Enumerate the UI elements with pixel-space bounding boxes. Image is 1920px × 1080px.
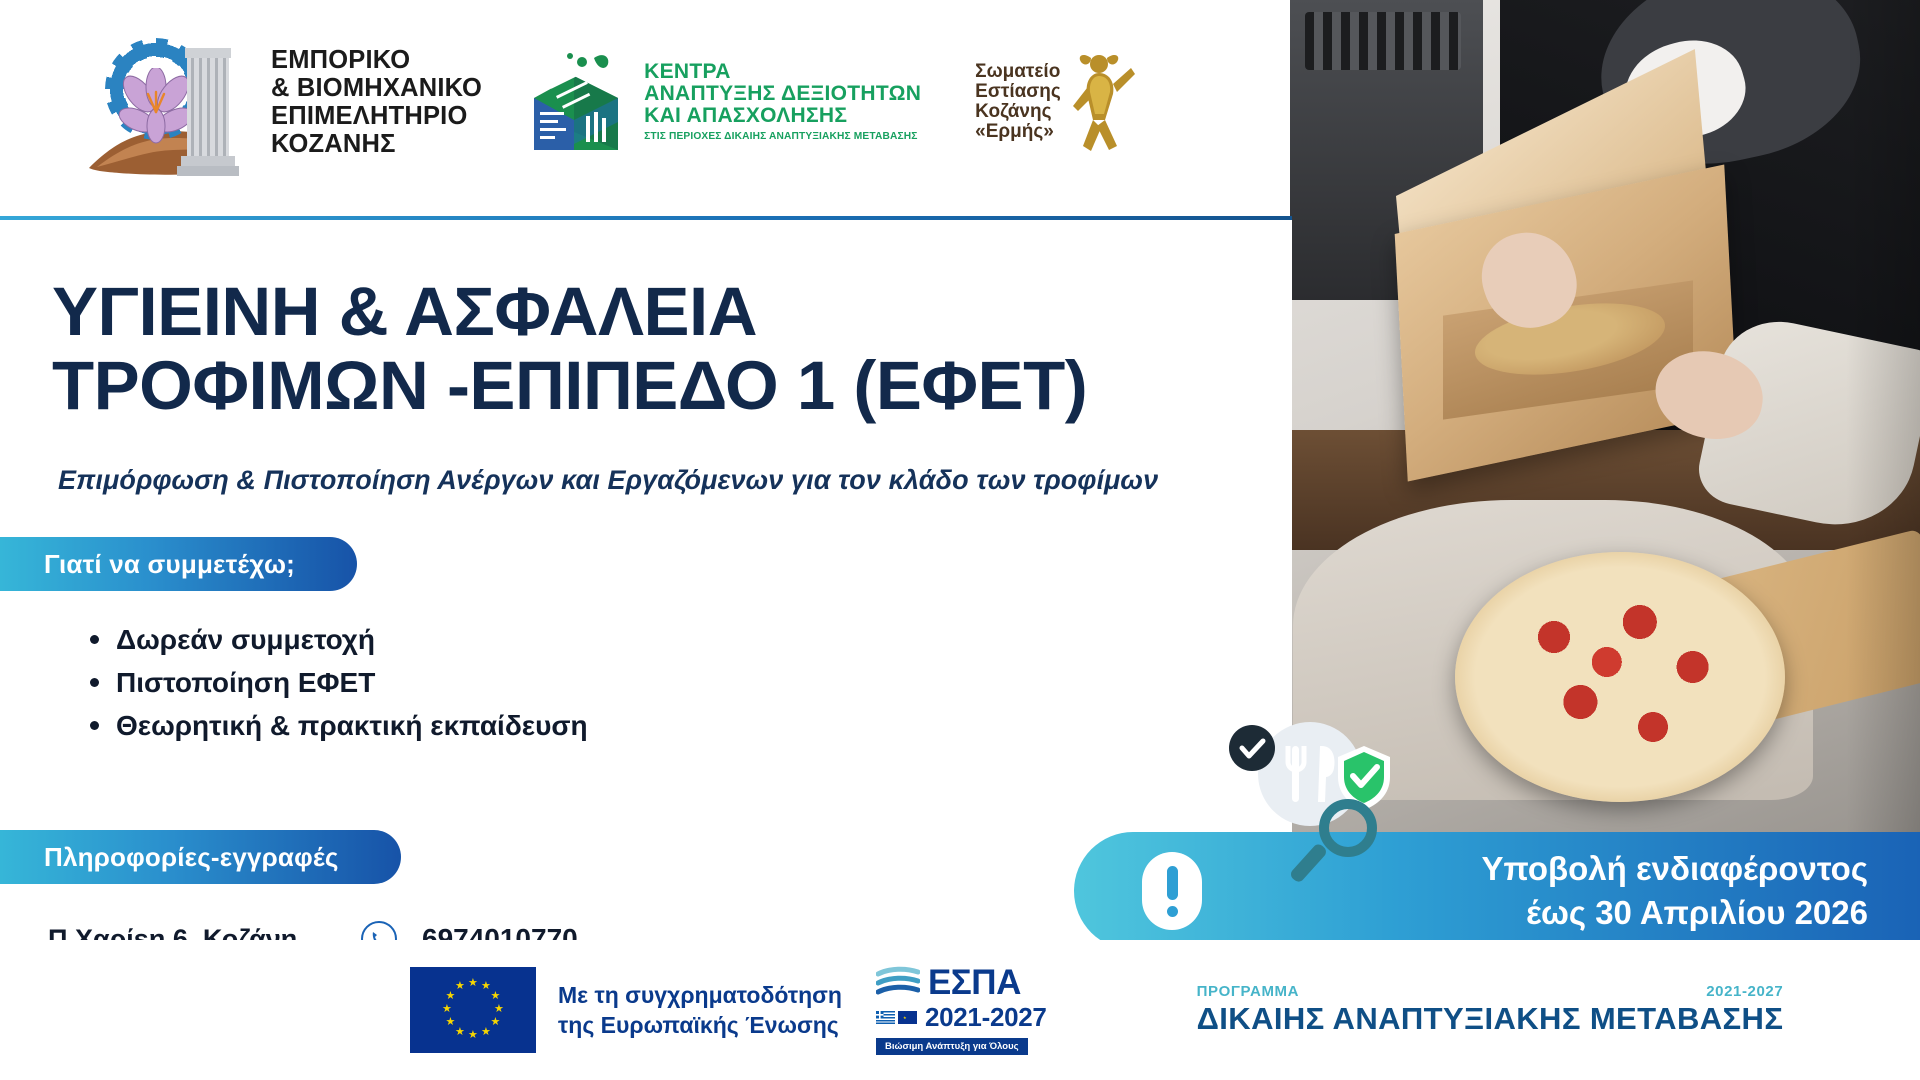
skills-line-2: ΑΝΑΠΤΥΞΗΣ ΔΕΞΙΟΤΗΤΩΝ — [644, 83, 921, 105]
ermis-line-2: Εστίασης — [975, 82, 1061, 102]
chamber-line-1: ΕΜΠΟΡΙΚΟ — [271, 46, 482, 74]
logo-ermis-catering-association: Σωματείο Εστίασης Κοζάνης «Ερμής» — [975, 48, 1139, 156]
why-participate-pill: Γιατί να συμμετέχω; — [0, 537, 357, 591]
deadline-text: Υποβολή ενδιαφέροντος έως 30 Απριλίου 20… — [1481, 847, 1868, 934]
chamber-line-2: & ΒΙΟΜΗΧΑΝΙΚΟ — [271, 74, 482, 102]
info-registration-label: Πληροφορίες-εγγραφές — [44, 842, 339, 873]
skills-centers-logo-mark — [520, 46, 632, 158]
eu-flag-mini-icon: ★ — [898, 1011, 917, 1024]
eu-text-line-2: της Ευρωπαϊκής Ένωσης — [558, 1010, 842, 1040]
program-label: ΠΡΟΓΡΑΜΜΑ — [1197, 984, 1299, 1000]
header-divider — [0, 216, 1292, 220]
ermis-line-4: «Ερμής» — [975, 122, 1061, 142]
espa-waves-icon — [876, 966, 920, 1000]
skills-centers-logo-text: ΚΕΝΤΡΑ ΑΝΑΠΤΥΞΗΣ ΔΕΞΙΟΤΗΤΩΝ ΚΑΙ ΑΠΑΣΧΟΛΗ… — [644, 61, 921, 142]
eu-flag-icon: ★★★★★★★★★★★★ — [410, 967, 536, 1053]
ermis-line-1: Σωματείο — [975, 62, 1061, 82]
footer-funding-bar: ★★★★★★★★★★★★ Με τη συγχρηματοδότηση της … — [0, 940, 1920, 1080]
espa-years: 2021-2027 — [925, 1002, 1047, 1033]
list-item: Δωρεάν συμμετοχή — [90, 618, 588, 661]
deadline-line-1: Υποβολή ενδιαφέροντος — [1481, 847, 1868, 891]
espa-logo: ΕΣΠΑ ★ — [876, 966, 1047, 1055]
poster-root: ΕΜΠΟΡΙΚΟ & ΒΙΟΜΗΧΑΝΙΚΟ ΕΠΙΜΕΛΗΤΗΡΙΟ ΚΟΖΑ… — [0, 0, 1920, 1080]
eu-funding-text: Με τη συγχρηματοδότηση της Ευρωπαϊκής Έν… — [558, 980, 842, 1041]
chamber-line-3: ΕΠΙΜΕΛΗΤΗΡΙΟ — [271, 102, 482, 130]
info-registration-pill: Πληροφορίες-εγγραφές — [0, 830, 401, 884]
main-content: ΥΓΙΕΙΝΗ & ΑΣΦΑΛΕΙΑ ΤΡΟΦΙΜΩΝ -ΕΠΙΠΕΔΟ 1 (… — [0, 220, 1292, 940]
skills-line-3: ΚΑΙ ΑΠΑΣΧΟΛΗΣΗΣ — [644, 105, 921, 127]
espa-word: ΕΣΠΑ — [928, 966, 1021, 999]
why-participate-label: Γιατί να συμμετέχω; — [44, 549, 295, 580]
hermes-figure-icon — [1069, 48, 1139, 156]
skills-line-1: ΚΕΝΤΡΑ — [644, 61, 921, 83]
logo-chamber-of-kozani: ΕΜΠΟΡΙΚΟ & ΒΙΟΜΗΧΑΝΙΚΟ ΕΠΙΜΕΛΗΤΗΡΙΟ ΚΟΖΑ… — [85, 26, 482, 178]
deadline-line-2: έως 30 Απριλίου 2026 — [1481, 891, 1868, 935]
header-logo-bar: ΕΜΠΟΡΙΚΟ & ΒΙΟΜΗΧΑΝΙΚΟ ΕΠΙΜΕΛΗΤΗΡΙΟ ΚΟΖΑ… — [0, 0, 1290, 218]
svg-text:★: ★ — [903, 1015, 907, 1020]
greek-column-icon — [177, 42, 239, 178]
title-line-1: ΥΓΙΕΙΝΗ & ΑΣΦΑΛΕΙΑ — [52, 275, 1282, 349]
chamber-logo-text: ΕΜΠΟΡΙΚΟ & ΒΙΟΜΗΧΑΝΙΚΟ ΕΠΙΜΕΛΗΤΗΡΙΟ ΚΟΖΑ… — [271, 46, 482, 158]
exclamation-icon — [1142, 852, 1202, 930]
greek-flag-icon — [876, 1011, 895, 1024]
title-line-2: ΤΡΟΦΙΜΩΝ -ΕΠΙΠΕΔΟ 1 (ΕΦΕΤ) — [52, 349, 1282, 423]
page-subtitle: Επιμόρφωση & Πιστοποίηση Ανέργων και Εργ… — [58, 465, 1238, 496]
list-item: Θεωρητική & πρακτική εκπαίδευση — [90, 704, 588, 747]
food-safety-badge-icon — [1222, 712, 1422, 892]
list-item: Πιστοποίηση ΕΦΕΤ — [90, 661, 588, 704]
espa-tagline: Βιώσιμη Ανάπτυξη για Όλους — [876, 1038, 1028, 1055]
ermis-logo-text: Σωματείο Εστίασης Κοζάνης «Ερμής» — [975, 62, 1061, 143]
program-name: ΔΙΚΑΙΗΣ ΑΝΑΠΤΥΞΙΑΚΗΣ ΜΕΤΑΒΑΣΗΣ — [1197, 1002, 1784, 1035]
ermis-line-3: Κοζάνης — [975, 102, 1061, 122]
logo-skills-development-centers: ΚΕΝΤΡΑ ΑΝΑΠΤΥΞΗΣ ΔΕΞΙΟΤΗΤΩΝ ΚΑΙ ΑΠΑΣΧΟΛΗ… — [520, 46, 921, 158]
eu-funding-block: ★★★★★★★★★★★★ Με τη συγχρηματοδότηση της … — [410, 967, 842, 1053]
chamber-line-4: ΚΟΖΑΝΗΣ — [271, 130, 482, 158]
program-years: 2021-2027 — [1706, 984, 1783, 1000]
benefits-list: Δωρεάν συμμετοχή Πιστοποίηση ΕΦΕΤ Θεωρητ… — [56, 618, 588, 747]
deadline-banner: Υποβολή ενδιαφέροντος έως 30 Απριλίου 20… — [1074, 832, 1920, 950]
skills-subtitle: ΣΤΙΣ ΠΕΡΙΟΧΕΣ ΔΙΚΑΙΗΣ ΑΝΑΠΤΥΞΙΑΚΗΣ ΜΕΤΑΒ… — [644, 132, 921, 143]
eu-text-line-1: Με τη συγχρηματοδότηση — [558, 980, 842, 1010]
espa-mini-flags: ★ — [876, 1011, 917, 1024]
program-block: ΠΡΟΓΡΑΜΜΑ 2021-2027 ΔΙΚΑΙΗΣ ΑΝΑΠΤΥΞΙΑΚΗΣ… — [1197, 984, 1784, 1036]
page-title: ΥΓΙΕΙΝΗ & ΑΣΦΑΛΕΙΑ ΤΡΟΦΙΜΩΝ -ΕΠΙΠΕΔΟ 1 (… — [52, 275, 1282, 423]
chamber-logo-mark — [85, 26, 257, 178]
